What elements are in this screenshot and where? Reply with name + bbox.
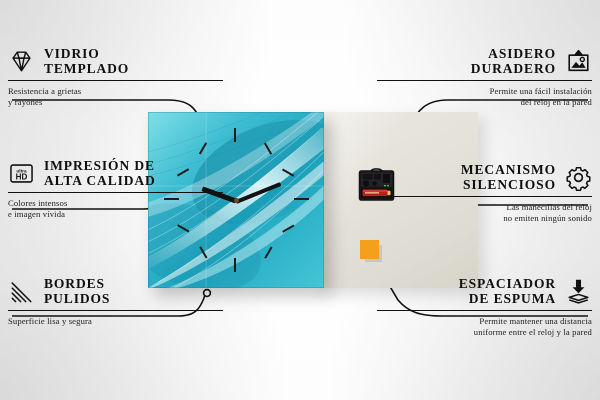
feature-header: ASIDERO DURADERO	[377, 46, 592, 76]
feature-title: MECANISMO SILENCIOSO	[461, 162, 556, 192]
ultra-hd-icon: ultra HD	[8, 160, 35, 187]
feature-divider	[377, 80, 592, 81]
feature-asidero-duradero: ASIDERO DURADERO Permite una fácil insta…	[377, 46, 592, 108]
infographic-canvas: VIDRIO TEMPLADO Resistencia a grietas y …	[0, 0, 600, 400]
feature-title: ESPACIADOR DE ESPUMA	[459, 276, 556, 306]
feature-header: ultra HD IMPRESIÓN DE ALTA CALIDAD	[8, 158, 223, 188]
feature-header: MECANISMO SILENCIOSO	[377, 162, 592, 192]
feature-header: VIDRIO TEMPLADO	[8, 46, 223, 76]
clock-marker-12	[234, 128, 236, 142]
clock-marker-6	[234, 258, 236, 272]
feature-divider	[8, 80, 223, 81]
feature-description: Permite una fácil instalación del reloj …	[377, 86, 592, 108]
feature-vidrio-templado: VIDRIO TEMPLADO Resistencia a grietas y …	[8, 46, 223, 108]
feature-description: Superficie lisa y segura	[8, 316, 223, 327]
feature-impresion-alta-calidad: ultra HD IMPRESIÓN DE ALTA CALIDAD Color…	[8, 158, 223, 220]
clock-marker-3	[294, 198, 309, 200]
feature-header: ESPACIADOR DE ESPUMA	[377, 276, 592, 306]
feature-title: BORDES PULIDOS	[44, 276, 110, 306]
feature-description: Colores intensos e imagen vívida	[8, 198, 223, 220]
feature-divider	[8, 192, 223, 193]
feature-title: IMPRESIÓN DE ALTA CALIDAD	[44, 158, 156, 188]
polished-edges-icon	[8, 278, 35, 305]
picture-hanger-icon	[565, 48, 592, 75]
feature-divider	[8, 310, 223, 311]
feature-description: Las manecillas del reloj no emiten ningú…	[377, 202, 592, 224]
svg-text:HD: HD	[16, 172, 28, 181]
clock-center-pin	[234, 198, 239, 203]
feature-bordes-pulidos: BORDES PULIDOS Superficie lisa y segura	[8, 276, 223, 327]
feature-espaciador-de-espuma: ESPACIADOR DE ESPUMA Permite mantener un…	[377, 276, 592, 338]
feature-divider	[377, 310, 592, 311]
diamond-icon	[8, 48, 35, 75]
feature-header: BORDES PULIDOS	[8, 276, 223, 306]
feature-title: VIDRIO TEMPLADO	[44, 46, 129, 76]
foam-spacer-image	[360, 240, 379, 259]
feature-divider	[377, 196, 592, 197]
feature-description: Permite mantener una distancia uniforme …	[377, 316, 592, 338]
feature-description: Resistencia a grietas y rayones	[8, 86, 223, 108]
gear-icon	[565, 164, 592, 191]
feature-title: ASIDERO DURADERO	[471, 46, 556, 76]
feature-mecanismo-silencioso: MECANISMO SILENCIOSO Las manecillas del …	[377, 162, 592, 224]
foam-spacer-icon	[565, 278, 592, 305]
